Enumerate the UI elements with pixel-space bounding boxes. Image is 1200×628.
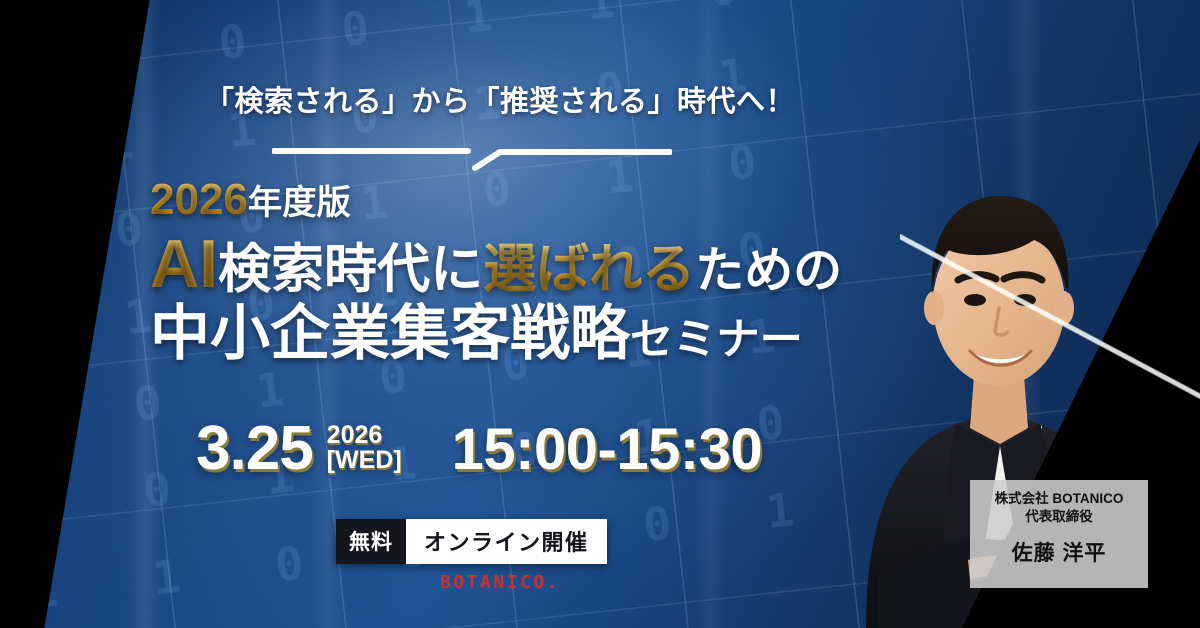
event-year-weekday: 2026 [WED]	[327, 423, 402, 479]
headline-chosen-gold: 選ばれる	[483, 240, 695, 299]
badge-free: 無料	[336, 519, 406, 564]
speaker-name: 佐藤 洋平	[1012, 537, 1107, 567]
headline-seminar: セミナー	[630, 316, 803, 364]
speaker-role: 代表取締役	[1025, 508, 1093, 526]
headline-year-suffix: 年度版	[248, 184, 351, 222]
headline-search-era: 検索時代に	[218, 240, 483, 299]
speaker-company: 株式会社 BOTANICO	[995, 491, 1124, 508]
kicker-text: 「検索される」から「推奨される」時代へ！	[0, 78, 1200, 120]
schedule-row: 3.25 2026 [WED] 15:00-15:30	[196, 420, 762, 479]
headline-line-2: AI検索時代に選ばれるための	[150, 230, 842, 298]
headline-line-1: 2026年度版	[150, 178, 842, 222]
headline-strategy: 中小企業集客戦略	[150, 300, 630, 367]
event-year: 2026	[327, 423, 402, 449]
headline-tameno: ための	[695, 244, 842, 298]
headline-year-gold: 2026	[150, 175, 248, 224]
event-time: 15:00-15:30	[452, 422, 763, 479]
speaker-nameplate: 株式会社 BOTANICO 代表取締役 佐藤 洋平	[970, 480, 1148, 588]
event-weekday: [WED]	[327, 448, 402, 474]
badge-group: 無料 オンライン開催	[336, 519, 607, 564]
headline-ai-gold: AI	[150, 226, 218, 302]
event-date: 3.25	[196, 420, 313, 479]
seminar-banner: 0 1 0 1 1 0 0 1 1 0 1 0 0 1 1 0 0 0 1 1 …	[0, 0, 1200, 628]
divider-ornament	[272, 146, 672, 172]
headline-line-3: 中小企業集客戦略セミナー	[150, 304, 842, 364]
headline-block: 2026年度版 AI検索時代に選ばれるための 中小企業集客戦略セミナー	[150, 178, 842, 364]
badge-online-format: オンライン開催	[406, 519, 607, 564]
